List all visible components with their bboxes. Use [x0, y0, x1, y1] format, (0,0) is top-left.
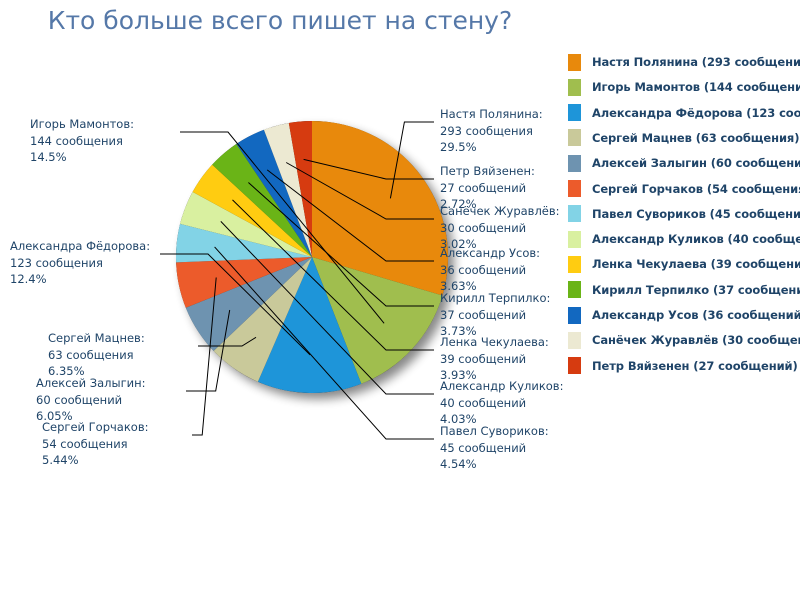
chart-page: Кто больше всего пишет на стену? Настя П… — [0, 0, 800, 600]
callout-percent: 29.5% — [440, 139, 543, 156]
callout-aleksandr-usov: Александр Усов:36 сообщений3.63% — [440, 245, 540, 295]
legend-item-label: Александра Фёдорова (123 сообщения) — [592, 106, 800, 120]
legend-item-label: Сергей Горчаков (54 сообщения) — [592, 182, 800, 196]
legend-swatch-icon — [568, 205, 581, 222]
callout-sergey-matsnev: Сергей Мацнев:63 сообщения6.35% — [48, 330, 145, 380]
legend-item-label: Санёчек Журавлёв (30 сообщений) — [592, 333, 800, 347]
legend-swatch-icon — [568, 231, 581, 248]
legend-item[interactable]: Алексей Залыгин (60 сообщений) — [568, 151, 800, 175]
legend-item-label: Александр Усов (36 сообщений) — [592, 308, 800, 322]
callout-count: 27 сообщений — [440, 180, 535, 197]
callout-name: Сергей Мацнев: — [48, 330, 145, 347]
callout-count: 60 сообщений — [36, 392, 146, 409]
callout-name: Александра Фёдорова: — [10, 238, 150, 255]
legend-item[interactable]: Сергей Горчаков (54 сообщения) — [568, 177, 800, 201]
legend-swatch-icon — [568, 129, 581, 146]
callout-name: Павел Сувориков: — [440, 423, 549, 440]
legend-swatch-icon — [568, 281, 581, 298]
callout-count: 54 сообщения — [42, 436, 148, 453]
callout-aleksey-zalygin: Алексей Залыгин:60 сообщений6.05% — [36, 375, 146, 425]
callout-name: Сергей Горчаков: — [42, 419, 148, 436]
callout-aleksandr-kulikov: Александр Куликов:40 сообщений4.03% — [440, 378, 563, 428]
legend-swatch-icon — [568, 357, 581, 374]
callout-name: Кирилл Терпилко: — [440, 290, 550, 307]
legend-item[interactable]: Ленка Чекулаева (39 сообщений) — [568, 252, 800, 276]
callout-nastya-polyanina: Настя Полянина:293 сообщения29.5% — [440, 106, 543, 156]
legend-swatch-icon — [568, 307, 581, 324]
callout-count: 37 сообщений — [440, 307, 550, 324]
legend: Настя Полянина (293 сообщения)Игорь Мамо… — [568, 50, 800, 380]
legend-item-label: Павел Сувориков (45 сообщений) — [592, 207, 800, 221]
legend-swatch-icon — [568, 180, 581, 197]
legend-item[interactable]: Игорь Мамонтов (144 сообщения) — [568, 75, 800, 99]
callout-count: 123 сообщения — [10, 255, 150, 272]
callout-pavel-suvorikov: Павел Сувориков:45 сообщений4.54% — [440, 423, 549, 473]
callout-percent: 5.44% — [42, 452, 148, 469]
callout-percent: 4.54% — [440, 456, 549, 473]
legend-item[interactable]: Настя Полянина (293 сообщения) — [568, 50, 800, 74]
legend-swatch-icon — [568, 104, 581, 121]
callout-aleksandra-fyodorova: Александра Фёдорова:123 сообщения12.4% — [10, 238, 150, 288]
callout-name: Александр Усов: — [440, 245, 540, 262]
callout-kirill-terpilko: Кирилл Терпилко:37 сообщений3.73% — [440, 290, 550, 340]
legend-swatch-icon — [568, 54, 581, 71]
legend-swatch-icon — [568, 256, 581, 273]
legend-item-label: Сергей Мацнев (63 сообщения) — [592, 131, 799, 145]
legend-item[interactable]: Сергей Мацнев (63 сообщения) — [568, 126, 799, 150]
legend-item-label: Кирилл Терпилко (37 сообщений) — [592, 283, 800, 297]
legend-item[interactable]: Кирилл Терпилко (37 сообщений) — [568, 278, 800, 302]
legend-item[interactable]: Александр Усов (36 сообщений) — [568, 303, 800, 327]
legend-item-label: Петр Вяйзенен (27 сообщений) — [592, 359, 798, 373]
legend-item[interactable]: Санёчек Журавлёв (30 сообщений) — [568, 328, 800, 352]
callout-name: Александр Куликов: — [440, 378, 563, 395]
callout-percent: 14.5% — [30, 149, 134, 166]
callout-percent: 12.4% — [10, 271, 150, 288]
legend-item[interactable]: Александр Куликов (40 сообщений) — [568, 227, 800, 251]
legend-swatch-icon — [568, 332, 581, 349]
callout-count: 40 сообщений — [440, 395, 563, 412]
legend-item-label: Алексей Залыгин (60 сообщений) — [592, 156, 800, 170]
callout-count: 36 сообщений — [440, 262, 540, 279]
legend-item-label: Александр Куликов (40 сообщений) — [592, 232, 800, 246]
legend-item-label: Настя Полянина (293 сообщения) — [592, 55, 800, 69]
callout-count: 293 сообщения — [440, 123, 543, 140]
callout-name: Игорь Мамонтов: — [30, 116, 134, 133]
callout-name: Настя Полянина: — [440, 106, 543, 123]
callout-count: 144 сообщения — [30, 133, 134, 150]
callout-sergey-gorchakov: Сергей Горчаков:54 сообщения5.44% — [42, 419, 148, 469]
callout-name: Петр Вяйзенен: — [440, 163, 535, 180]
legend-item-label: Ленка Чекулаева (39 сообщений) — [592, 257, 800, 271]
callout-name: Санёчек Журавлёв: — [440, 203, 560, 220]
legend-item[interactable]: Александра Фёдорова (123 сообщения) — [568, 101, 800, 125]
callout-name: Алексей Залыгин: — [36, 375, 146, 392]
legend-item-label: Игорь Мамонтов (144 сообщения) — [592, 80, 800, 94]
callout-count: 45 сообщений — [440, 440, 549, 457]
callout-lenka-chekulaeva: Ленка Чекулаева:39 сообщений3.93% — [440, 334, 549, 384]
callout-count: 39 сообщений — [440, 351, 549, 368]
callout-igor-mamontov: Игорь Мамонтов:144 сообщения14.5% — [30, 116, 134, 166]
callout-count: 30 сообщений — [440, 220, 560, 237]
callout-name: Ленка Чекулаева: — [440, 334, 549, 351]
legend-item[interactable]: Павел Сувориков (45 сообщений) — [568, 202, 800, 226]
legend-swatch-icon — [568, 79, 581, 96]
legend-swatch-icon — [568, 155, 581, 172]
legend-item[interactable]: Петр Вяйзенен (27 сообщений) — [568, 354, 798, 378]
callout-count: 63 сообщения — [48, 347, 145, 364]
